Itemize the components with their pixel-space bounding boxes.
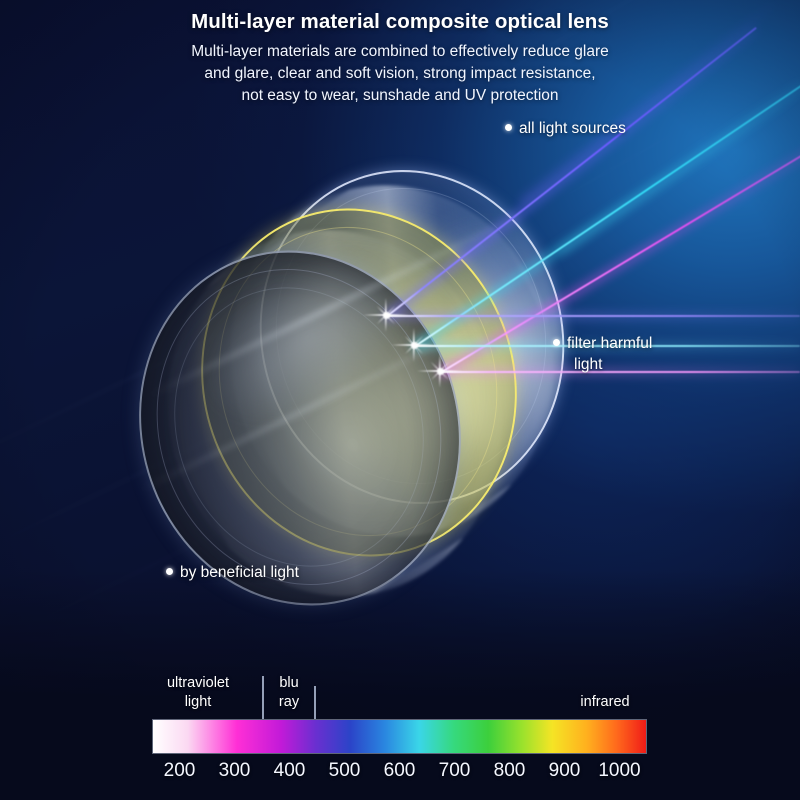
- header: Multi-layer material composite optical l…: [0, 10, 800, 107]
- spectrum-gradient-bar: [152, 719, 647, 754]
- optical-lens-infographic: Multi-layer material composite optical l…: [0, 0, 800, 800]
- spectrum-tick-200: 200: [164, 760, 196, 782]
- bullet-dot-icon: [505, 124, 512, 131]
- callout-filter-harmful-light-label-line2: light: [574, 354, 652, 375]
- band-divider-left: [262, 676, 264, 719]
- spectrum-tick-400: 400: [274, 760, 306, 782]
- spectrum-tick-300: 300: [219, 760, 251, 782]
- band-divider-right: [314, 686, 316, 719]
- subtitle-line-1: Multi-layer materials are combined to ef…: [120, 41, 680, 63]
- band-label-ultraviolet: ultraviolet light: [146, 674, 250, 712]
- subtitle-line-3: not easy to wear, sunshade and UV protec…: [120, 85, 680, 107]
- spectrum-tick-900: 900: [549, 760, 581, 782]
- spectrum-tick-1000: 1000: [598, 760, 640, 782]
- callout-filter-harmful-light-label: filter harmful: [567, 335, 652, 352]
- callout-filter-harmful-light: filter harmful light: [553, 333, 652, 375]
- band-label-blu-ray-line2: ray: [279, 694, 299, 710]
- subtitle-line-2: and glare, clear and soft vision, strong…: [120, 63, 680, 85]
- spectrum-tick-700: 700: [439, 760, 471, 782]
- band-label-infrared: infrared: [560, 693, 650, 712]
- callout-all-light-sources: all light sources: [505, 118, 626, 139]
- spectrum-gradient-fill: [153, 720, 646, 753]
- spectrum-tick-800: 800: [494, 760, 526, 782]
- callout-by-beneficial-light: by beneficial light: [166, 562, 299, 583]
- bullet-dot-icon: [166, 568, 173, 575]
- callout-all-light-sources-label: all light sources: [519, 120, 626, 137]
- spectrum-scale: ultraviolet light blu ray infrared 20030…: [0, 672, 800, 797]
- spectrum-tick-500: 500: [329, 760, 361, 782]
- band-label-infrared-line1: infrared: [580, 694, 629, 710]
- band-label-blu-ray-line1: blu: [279, 675, 298, 691]
- subtitle: Multi-layer materials are combined to ef…: [120, 41, 680, 107]
- page-title: Multi-layer material composite optical l…: [0, 10, 800, 34]
- band-label-ultraviolet-line1: ultraviolet: [167, 675, 229, 691]
- callout-by-beneficial-light-label: by beneficial light: [180, 564, 299, 581]
- bullet-dot-icon: [553, 339, 560, 346]
- spectrum-tick-600: 600: [384, 760, 416, 782]
- band-label-blu-ray: blu ray: [266, 674, 312, 712]
- band-label-ultraviolet-line2: light: [185, 694, 212, 710]
- violet-beam-outgoing: [386, 315, 800, 317]
